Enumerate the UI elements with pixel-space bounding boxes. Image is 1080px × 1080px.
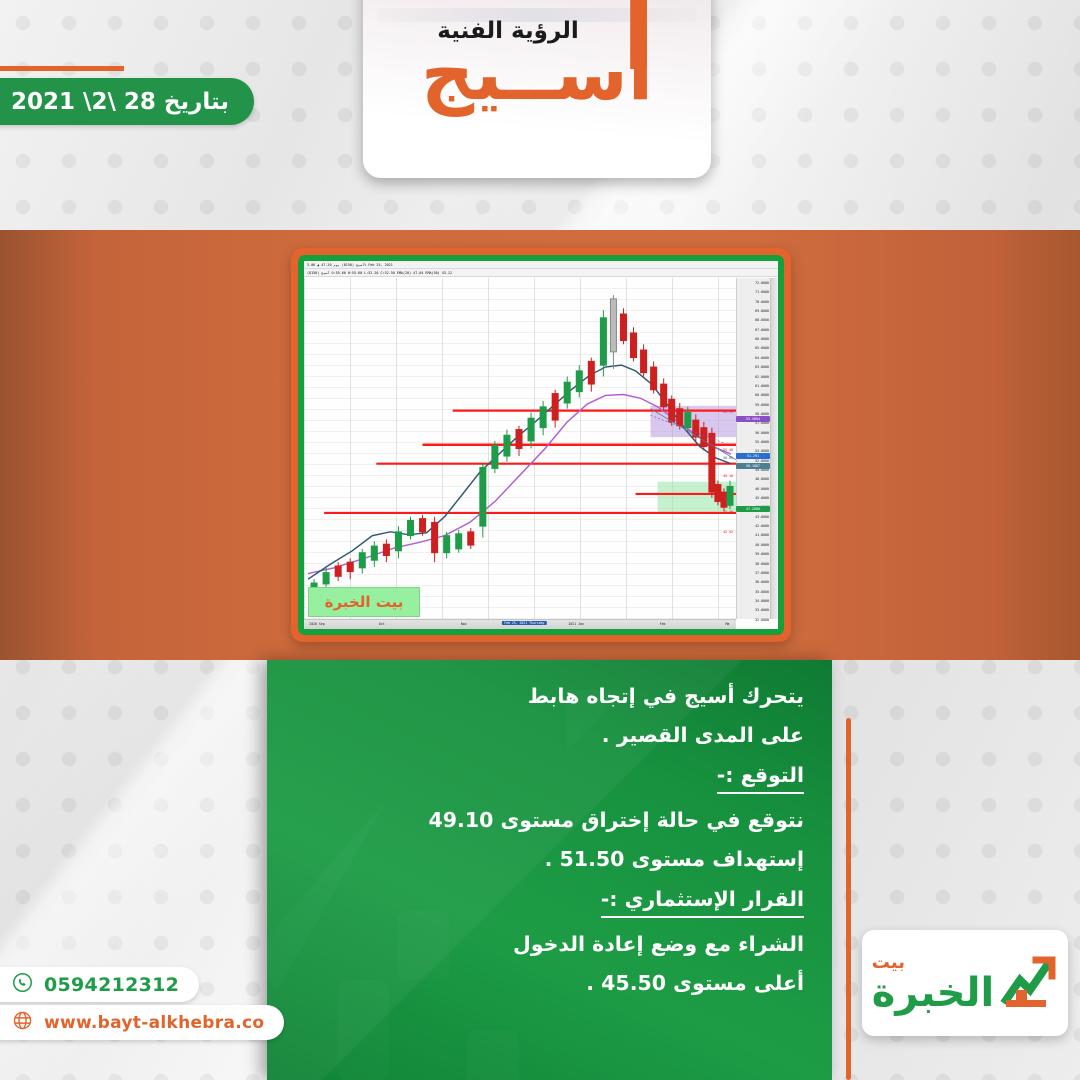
title-card: الرؤية الفنية أســيج أ <box>363 0 711 178</box>
date-badge: بتاريخ 28 \2\ 2021 <box>0 78 254 125</box>
chart-info-row-2: أسيج (8150) O:55.60 H:55.60 L:52.20 C:52… <box>304 269 778 277</box>
chart-info-row-1: أسيج (8150) يوم 47.20 ▲ 3.06% Feb 25, 20… <box>304 261 778 269</box>
analysis-line-6: أعلى مستوى 45.50 . <box>289 973 804 994</box>
chart-watermark: بيت الخبرة <box>308 587 420 617</box>
price-tick: 45.0000 <box>737 497 769 500</box>
price-badge: 50.1067 <box>736 463 770 469</box>
time-tick: 2020 Sep <box>309 622 324 626</box>
analysis-line-2: على المدى القصير . <box>289 725 804 746</box>
chart-plot-area[interactable]: 56.14 55.40 50.09 49.10 45.46 42.92 <box>304 278 736 619</box>
chart-svg <box>304 278 736 619</box>
website-url: www.bayt-alkhebra.co <box>44 1013 264 1033</box>
time-tick: Oct <box>379 622 385 626</box>
logo-word-main: الخبرة <box>872 973 994 1013</box>
brand-logo-card[interactable]: بيت الخبرة <box>862 930 1068 1036</box>
infographic-canvas: بتاريخ 28 \2\ 2021 الرؤية الفنية أســيج … <box>0 0 1080 1080</box>
analysis-line-3: نتوقع في حالة إختراق مستوى 49.10 <box>289 810 804 831</box>
price-tick: 59.0000 <box>737 404 769 407</box>
level-label-4292: 42.92 <box>723 530 733 534</box>
contact-website-pill[interactable]: www.bayt-alkhebra.co <box>0 1005 284 1040</box>
date-accent-rule <box>0 66 124 71</box>
price-tick: 49.0000 <box>737 469 769 472</box>
price-tick: 37.0000 <box>737 572 769 575</box>
price-tick: 41.0000 <box>737 534 769 537</box>
level-label-5614: 56.14 <box>723 410 733 414</box>
analysis-line-1: يتحرك أسيج في إتجاه هابط <box>289 686 804 707</box>
price-tick: 72.0000 <box>737 282 769 285</box>
level-label-4910: 49.10 <box>723 474 733 478</box>
time-tick: Nov <box>461 622 467 626</box>
growth-arrow-icon <box>1000 950 1058 1016</box>
price-tick: 38.0000 <box>737 563 769 566</box>
level-label-5009: 50.09 <box>723 456 733 460</box>
price-badge: 51.291 <box>736 453 770 459</box>
chart-canvas[interactable]: أسيج (8150) يوم 47.20 ▲ 3.06% Feb 25, 20… <box>304 261 778 629</box>
chart-green-border: أسيج (8150) يوم 47.20 ▲ 3.06% Feb 25, 20… <box>298 255 784 635</box>
price-tick: 32.0000 <box>737 619 769 622</box>
chart-scrollbar-vertical[interactable] <box>770 278 778 619</box>
phone-number: 0594212312 <box>44 974 179 996</box>
title-inner: الرؤية الفنية أســيج <box>363 18 711 108</box>
price-tick: 61.0000 <box>737 385 769 388</box>
time-tick: Ma <box>725 622 729 626</box>
price-tick: 65.0000 <box>737 347 769 350</box>
price-tick: 66.0000 <box>737 338 769 341</box>
price-badge: 47.2000 <box>736 506 770 512</box>
price-tick: 71.0000 <box>737 291 769 294</box>
price-axis[interactable]: 72.000071.000070.000069.000068.000067.00… <box>736 278 770 619</box>
price-badge: 53.5894 <box>736 416 770 422</box>
price-tick: 39.0000 <box>737 553 769 556</box>
analysis-heading-decision: القرار الإستثماري :- <box>601 887 804 918</box>
time-cursor-label: Feb 25, 2021 Thursday <box>502 621 546 625</box>
level-label-5540: 55.40 <box>723 448 733 452</box>
price-tick: 48.0000 <box>737 478 769 481</box>
price-tick: 63.0000 <box>737 366 769 369</box>
price-tick: 35.0000 <box>737 591 769 594</box>
analysis-line-4: إستهداف مستوى 51.50 . <box>289 849 804 870</box>
page-title: أســيج <box>421 40 653 108</box>
orange-accent-line <box>846 718 851 1080</box>
analysis-heading-forecast: التوقع :- <box>717 763 804 794</box>
price-tick: 36.0000 <box>737 581 769 584</box>
price-tick: 70.0000 <box>737 301 769 304</box>
price-tick: 46.0000 <box>737 488 769 491</box>
analysis-panel: يتحرك أسيج في إتجاه هابط على المدى القصي… <box>267 660 832 1080</box>
price-tick: 62.0000 <box>737 376 769 379</box>
price-tick: 33.0000 <box>737 609 769 612</box>
whatsapp-icon <box>12 972 33 997</box>
price-tick: 34.0000 <box>737 600 769 603</box>
chart-frame: أسيج (8150) يوم 47.20 ▲ 3.06% Feb 25, 20… <box>291 248 791 642</box>
time-tick: 2021 Jan <box>568 622 583 626</box>
price-tick: 64.0000 <box>737 357 769 360</box>
price-tick: 56.0000 <box>737 432 769 435</box>
brand-hamza-mark: أ <box>622 0 655 84</box>
price-tick: 57.0000 <box>737 422 769 425</box>
price-tick: 60.0000 <box>737 394 769 397</box>
price-tick: 40.0000 <box>737 544 769 547</box>
time-axis[interactable]: 2020 SepOctNov2021 JanFebMaFeb 25, 2021 … <box>304 619 736 629</box>
analysis-line-5: الشراء مع وضع إعادة الدخول <box>289 934 804 955</box>
analysis-text: يتحرك أسيج في إتجاه هابط على المدى القصي… <box>289 686 804 1011</box>
time-tick: Feb <box>660 622 666 626</box>
price-tick: 68.0000 <box>737 319 769 322</box>
logo-word-top: بيت <box>872 954 905 972</box>
price-tick: 42.0000 <box>737 525 769 528</box>
price-tick: 43.0000 <box>737 516 769 519</box>
price-tick: 69.0000 <box>737 310 769 313</box>
price-tick: 55.0000 <box>737 441 769 444</box>
level-label-4546: 45.46 <box>723 510 733 514</box>
price-tick: 67.0000 <box>737 329 769 332</box>
globe-icon <box>12 1010 33 1035</box>
contact-phone-pill[interactable]: 0594212312 <box>0 967 199 1002</box>
logo-wordmark: بيت الخبرة <box>872 954 994 1013</box>
